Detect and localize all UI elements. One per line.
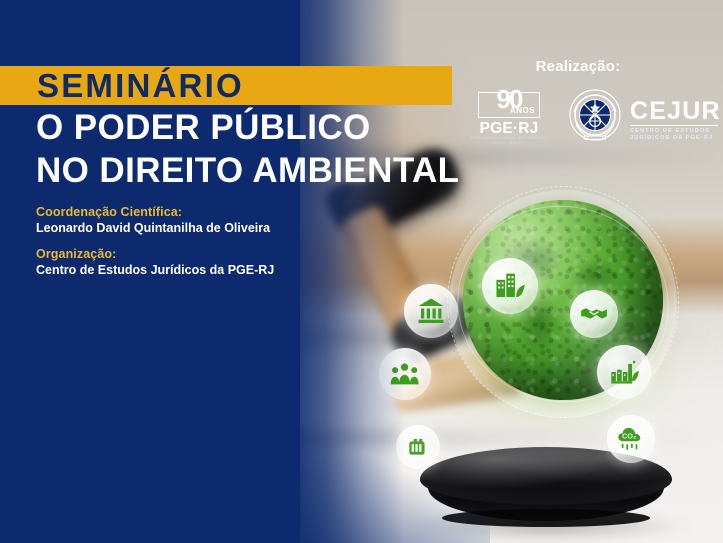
page-title-line-2: NO DIREITO AMBIENTAL — [36, 153, 506, 189]
pge-logo-subtitle: PROCURADORIA GERAL DO ESTADO DO RIO DE J… — [470, 136, 548, 145]
cejur-wordmark: CEJUR — [630, 98, 721, 124]
cejur-logo: CEJUR CENTRO DE ESTUDOS JURÍDICOS DA PGE… — [566, 84, 716, 150]
cejur-subtitle-line-2: JURÍDICOS DA PGE·RJ — [630, 135, 713, 142]
cejur-subtitle: CENTRO DE ESTUDOS JURÍDICOS DA PGE·RJ — [630, 128, 713, 142]
coordination-value: Leonardo David Quintanilha de Oliveira — [36, 220, 366, 237]
organization-value: Centro de Estudos Jurídicos da PGE-RJ — [36, 262, 366, 279]
page-title: O PODER PÚBLICO NO DIREITO AMBIENTAL — [36, 110, 506, 189]
eyebrow-text: SEMINÁRIO — [37, 68, 457, 104]
cejur-divider — [630, 125, 718, 126]
event-poster: CO₂ SEMINÁRIO O — [0, 0, 723, 543]
credits-block: Coordenação Científica: Leonardo David Q… — [36, 204, 366, 288]
eco-factory-icon — [597, 345, 651, 399]
logo-row: 90 ANOS PGE·RJ PROCURADORIA GERAL DO EST… — [466, 84, 716, 150]
realization-label: Realização: — [478, 58, 678, 75]
svg-text:CO₂: CO₂ — [622, 432, 636, 441]
bank-icon — [404, 284, 458, 338]
pge-anniversary-number: 90 — [470, 86, 548, 114]
pge-anniversary-word: ANOS — [510, 106, 535, 115]
coordination-label: Coordenação Científica: — [36, 204, 366, 220]
eco-buildings-icon — [482, 258, 538, 314]
page-title-line-1: O PODER PÚBLICO — [36, 108, 371, 147]
co2-cloud-icon: CO₂ — [607, 415, 655, 463]
pge-rj-logo: 90 ANOS PGE·RJ PROCURADORIA GERAL DO EST… — [470, 86, 548, 148]
handshake-icon — [570, 290, 618, 338]
rio-de-janeiro-state-coat-of-arms-icon — [566, 86, 624, 146]
organization-label: Organização: — [36, 246, 366, 262]
blue-gradient-fade-bottom — [250, 423, 490, 543]
